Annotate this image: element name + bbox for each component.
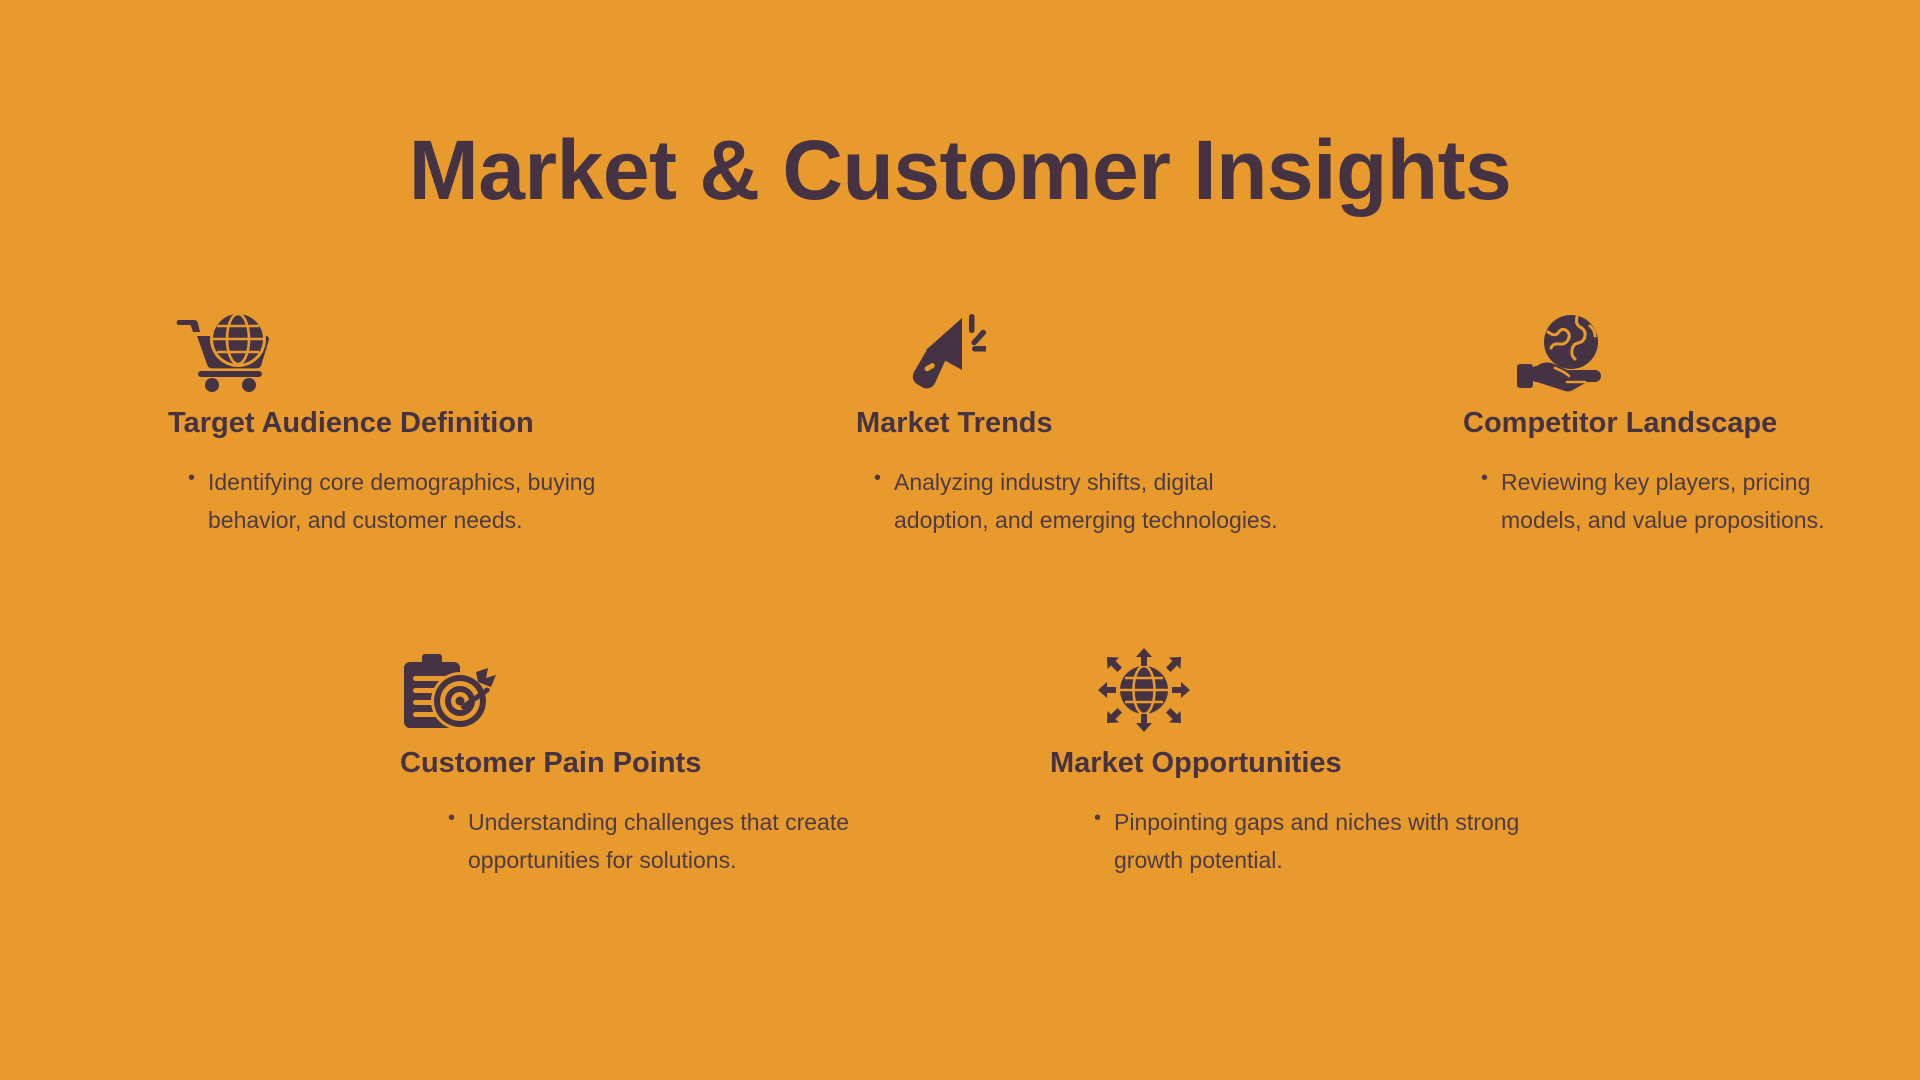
megaphone-icon (788, 300, 1278, 392)
list-item: Identifying core demographics, buying be… (186, 463, 658, 540)
feature-block-market-trends: Market Trends Analyzing industry shifts,… (788, 300, 1278, 540)
shopping-cart-globe-icon (168, 300, 658, 392)
list-item: Reviewing key players, pricing models, a… (1479, 463, 1893, 540)
feature-heading: Target Audience Definition (168, 406, 658, 441)
feature-heading: Market Trends (788, 406, 1278, 441)
globe-arrows-icon (1050, 640, 1540, 732)
feature-block-customer-pain-points: Customer Pain Points Understanding chall… (400, 640, 890, 880)
page-title: Market & Customer Insights (0, 126, 1920, 214)
feature-row-two: Customer Pain Points Understanding chall… (0, 640, 1920, 880)
hand-holding-globe-icon (1403, 300, 1893, 392)
slide-canvas: Market & Customer Insights (0, 0, 1920, 1080)
feature-heading: Customer Pain Points (400, 746, 890, 781)
list-item: Analyzing industry shifts, digital adopt… (872, 463, 1278, 540)
feature-bullet-list: Analyzing industry shifts, digital adopt… (788, 463, 1278, 540)
list-item: Understanding challenges that create opp… (446, 803, 890, 880)
feature-block-market-opportunities: Market Opportunities Pinpointing gaps an… (1050, 640, 1540, 880)
feature-bullet-list: Pinpointing gaps and niches with strong … (1050, 803, 1540, 880)
feature-bullet-list: Understanding challenges that create opp… (400, 803, 890, 880)
feature-block-competitor-landscape: Competitor Landscape Reviewing key playe… (1403, 300, 1893, 540)
feature-bullet-list: Identifying core demographics, buying be… (168, 463, 658, 540)
feature-row-one: Target Audience Definition Identifying c… (0, 300, 1920, 540)
feature-heading: Competitor Landscape (1403, 406, 1893, 441)
list-item: Pinpointing gaps and niches with strong … (1092, 803, 1540, 880)
feature-heading: Market Opportunities (1050, 746, 1540, 781)
clipboard-target-icon (400, 640, 890, 732)
feature-block-target-audience: Target Audience Definition Identifying c… (168, 300, 658, 540)
feature-bullet-list: Reviewing key players, pricing models, a… (1403, 463, 1893, 540)
